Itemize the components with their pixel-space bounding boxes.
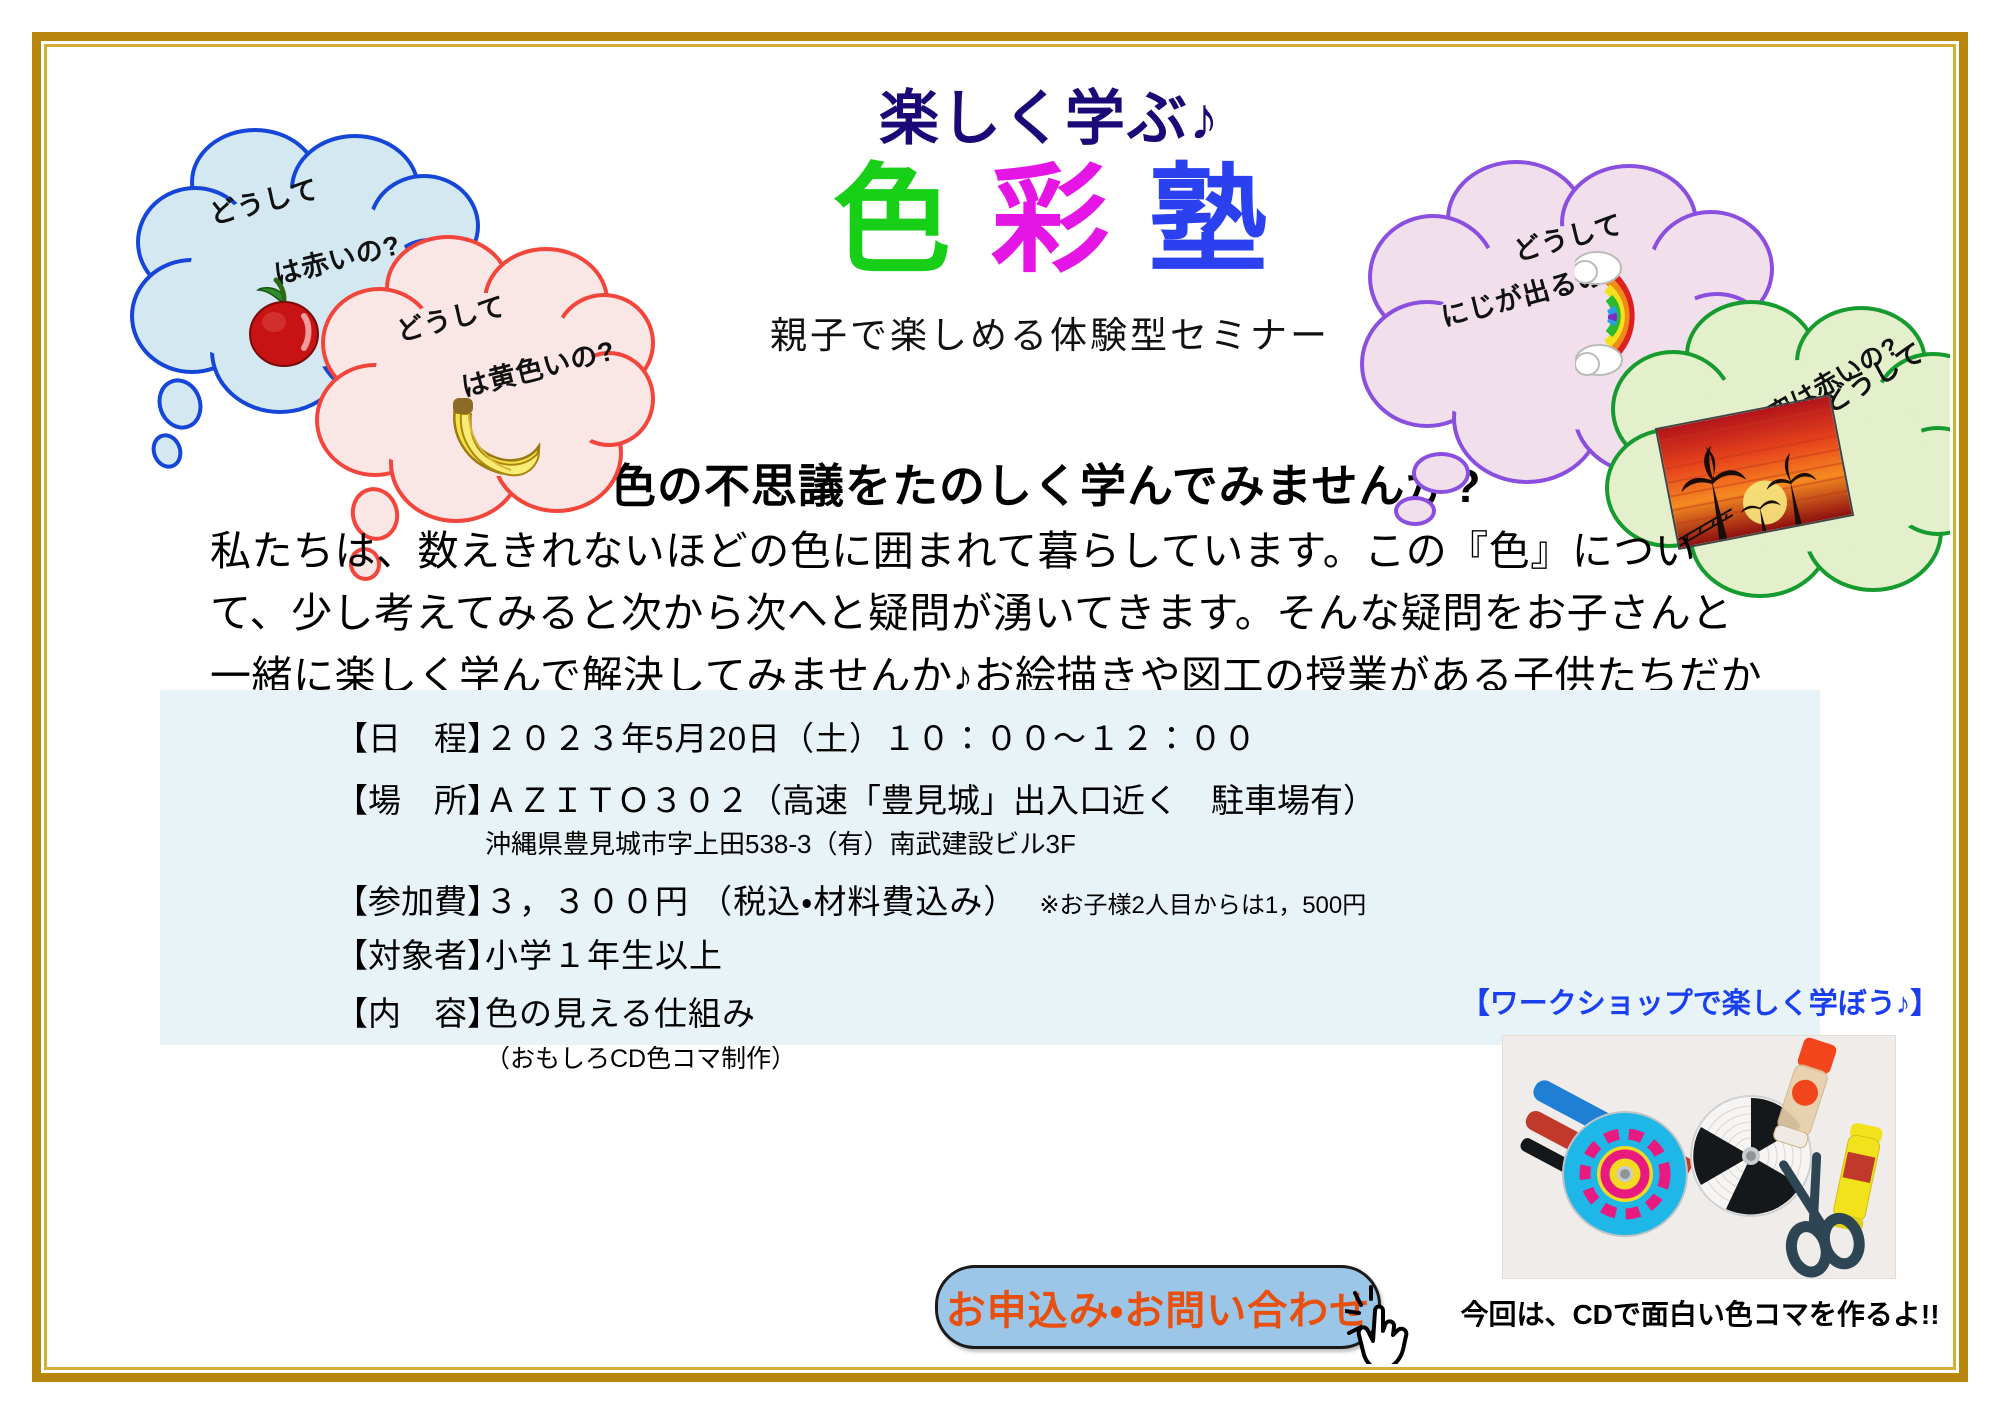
info-row-place: 【場 所】 ＡＺＩＴＯ３０２（高速「豊見城」出入口近く 駐車場有） 沖縄県豊見城… xyxy=(335,774,1295,861)
title-char-juku: 塾 xyxy=(1149,155,1267,287)
title-char-shiki: 色 xyxy=(833,155,951,287)
info-value-place: ＡＺＩＴＯ３０２（高速「豊見城」出入口近く 駐車場有） xyxy=(485,774,1376,822)
apply-contact-button[interactable]: お申込み・お問い合わせ xyxy=(935,1265,1381,1349)
page-subtitle: 親子で楽しめる体験型セミナー xyxy=(690,305,1410,359)
info-row-content: 【内 容】 色の見える仕組み （おもしろCD色コマ制作） xyxy=(335,987,1295,1075)
workshop-heading: 【ワークショップで楽しく学ぼう♪】 xyxy=(1440,980,1950,1022)
poster-root: 楽しく学ぶ♪ 色彩塾 親子で楽しめる体験型セミナー 色の不思議をたのしく学んでみ… xyxy=(0,0,2000,1414)
info-row-date: 【日 程】 ２０２３年5月20日（土）１０：００〜１２：００ xyxy=(335,712,1295,760)
workshop-photo xyxy=(1502,1035,1896,1279)
info-label-target: 【対象者】 xyxy=(335,929,485,977)
pointer-hand-icon xyxy=(1345,1285,1423,1364)
info-rows: 【日 程】 ２０２３年5月20日（土）１０：００〜１２：００ 【場 所】 ＡＺＩ… xyxy=(335,712,1295,1079)
poster-stage: 楽しく学ぶ♪ 色彩塾 親子で楽しめる体験型セミナー 色の不思議をたのしく学んでみ… xyxy=(50,50,1950,1364)
workshop-caption: 今回は、CDで面白い色コマを作るよ!! xyxy=(1440,1293,1950,1333)
info-value-target: 小学１年生以上 xyxy=(485,929,1295,977)
info-label-content: 【内 容】 xyxy=(335,987,485,1035)
bubble-apple-tail-2 xyxy=(147,429,188,473)
title-char-sai: 彩 xyxy=(991,155,1109,287)
info-value-fee: ３，３００円 （税込・材料費込み） xyxy=(485,875,1017,923)
thought-bubble-banana: どうして は黄色いの? xyxy=(315,235,655,525)
info-row-target: 【対象者】 小学１年生以上 xyxy=(335,929,1295,977)
info-label-date: 【日 程】 xyxy=(335,712,485,760)
info-value-fee-note: ※お子様2人目からは1，500円 xyxy=(1039,885,1366,920)
info-value-date: ２０２３年5月20日（土）１０：００〜１２：００ xyxy=(485,712,1295,760)
info-row-fee: 【参加費】 ３，３００円 （税込・材料費込み） ※お子様2人目からは1，500円 xyxy=(335,875,1295,923)
apply-contact-button-label: お申込み・お問い合わせ xyxy=(946,1278,1371,1336)
page-headline: 楽しく学ぶ♪ xyxy=(750,70,1350,157)
info-value-content: 色の見える仕組み xyxy=(485,987,1295,1035)
info-value-place-address: 沖縄県豊見城市字上田538-3（有）南武建設ビル3F xyxy=(485,824,1376,861)
bubble-rainbow-tail-1 xyxy=(1412,452,1470,494)
info-value-content-sub: （おもしろCD色コマ制作） xyxy=(485,1039,1295,1075)
banana-icon xyxy=(435,390,555,490)
info-label-place: 【場 所】 xyxy=(335,774,485,822)
page-title: 色彩塾 xyxy=(690,160,1410,284)
page-tagline: 色の不思議をたのしく学んでみませんか? xyxy=(610,450,1450,516)
info-label-fee: 【参加費】 xyxy=(335,875,485,923)
